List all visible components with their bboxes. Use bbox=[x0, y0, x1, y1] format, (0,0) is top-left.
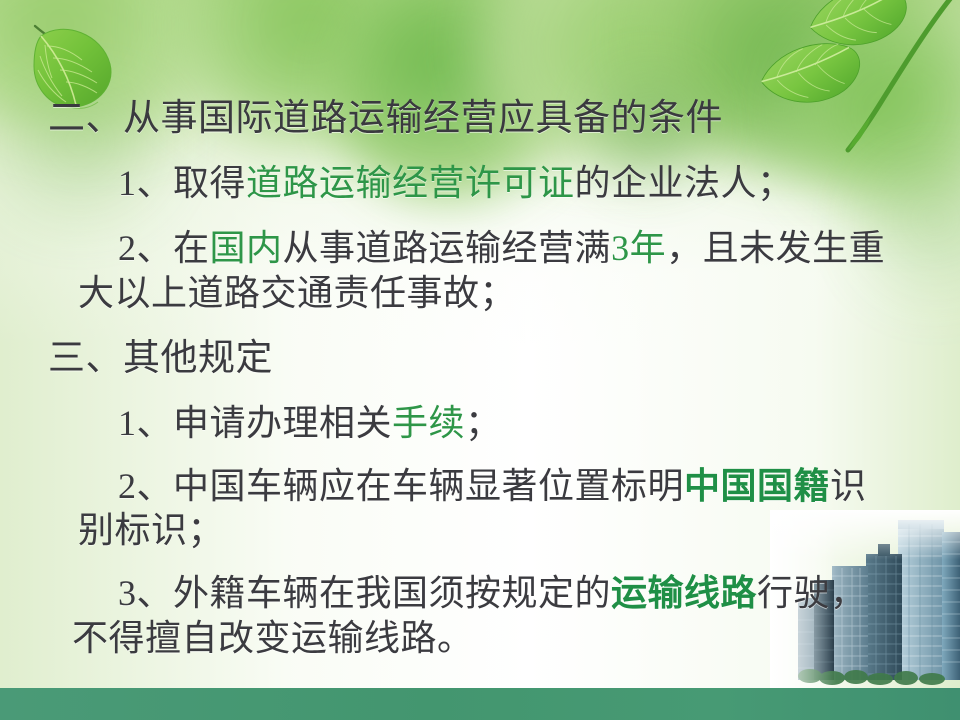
item-text: 不得擅自改变运输线路。 bbox=[72, 618, 474, 658]
item-text: 中国车辆应在车辆显著位置标明 bbox=[173, 466, 684, 506]
list-item-3-3-wrap: 不得擅自改变运输线路。 bbox=[72, 620, 474, 656]
list-item-3-2: 2、中国车辆应在车辆显著位置标明中国国籍识 bbox=[118, 468, 867, 504]
section-heading-two: 二、从事国际道路运输经营应具备的条件 bbox=[48, 100, 723, 137]
list-item-3-2-wrap: 别标识； bbox=[78, 512, 224, 548]
item-highlight: 手续 bbox=[392, 403, 465, 443]
item-number: 2、 bbox=[118, 466, 173, 506]
item-highlight-route: 运输线路 bbox=[611, 573, 757, 613]
item-text: 行驶， bbox=[757, 573, 867, 613]
item-highlight: 国内 bbox=[210, 228, 283, 268]
item-highlight-nationality: 中国国籍 bbox=[684, 466, 830, 506]
section-three-number: 三、 bbox=[48, 338, 123, 379]
item-text: 取得 bbox=[173, 163, 246, 203]
item-text: 别标识； bbox=[78, 510, 224, 550]
section-heading-three: 三、其他规定 bbox=[48, 340, 273, 377]
list-item-2-1: 1、取得道路运输经营许可证的企业法人； bbox=[118, 165, 794, 201]
section-two-number: 二、 bbox=[48, 98, 123, 139]
item-highlight-years: 3年 bbox=[611, 228, 666, 268]
item-number: 3、 bbox=[118, 573, 173, 613]
item-text: 申请办理相关 bbox=[173, 403, 392, 443]
item-text: 的企业法人； bbox=[575, 163, 794, 203]
list-item-2-2-wrap: 大以上道路交通责任事故； bbox=[78, 275, 516, 311]
section-two-title: 从事国际道路运输经营应具备的条件 bbox=[123, 98, 723, 139]
list-item-3-1: 1、申请办理相关手续； bbox=[118, 405, 502, 441]
item-text: 大以上道路交通责任事故； bbox=[78, 273, 516, 313]
item-highlight: 道路运输经营许可证 bbox=[246, 163, 575, 203]
item-text: 外籍车辆在我国须按规定的 bbox=[173, 573, 611, 613]
leaf-branch-icon bbox=[716, 0, 960, 172]
list-item-3-3: 3、外籍车辆在我国须按规定的运输线路行驶， bbox=[118, 575, 867, 611]
slide-canvas: 二、从事国际道路运输经营应具备的条件 1、取得道路运输经营许可证的企业法人； 2… bbox=[0, 0, 960, 720]
item-number: 1、 bbox=[118, 403, 173, 443]
item-text: 在 bbox=[173, 228, 210, 268]
item-text: 从事道路运输经营满 bbox=[283, 228, 612, 268]
list-item-2-2: 2、在国内从事道路运输经营满3年，且未发生重 bbox=[118, 230, 885, 266]
item-number: 2、 bbox=[118, 228, 173, 268]
section-three-title: 其他规定 bbox=[123, 338, 273, 379]
item-text: ； bbox=[465, 403, 502, 443]
item-text: 识 bbox=[830, 466, 867, 506]
footer-band bbox=[0, 688, 960, 720]
item-number: 1、 bbox=[118, 163, 173, 203]
item-text: ，且未发生重 bbox=[666, 228, 885, 268]
